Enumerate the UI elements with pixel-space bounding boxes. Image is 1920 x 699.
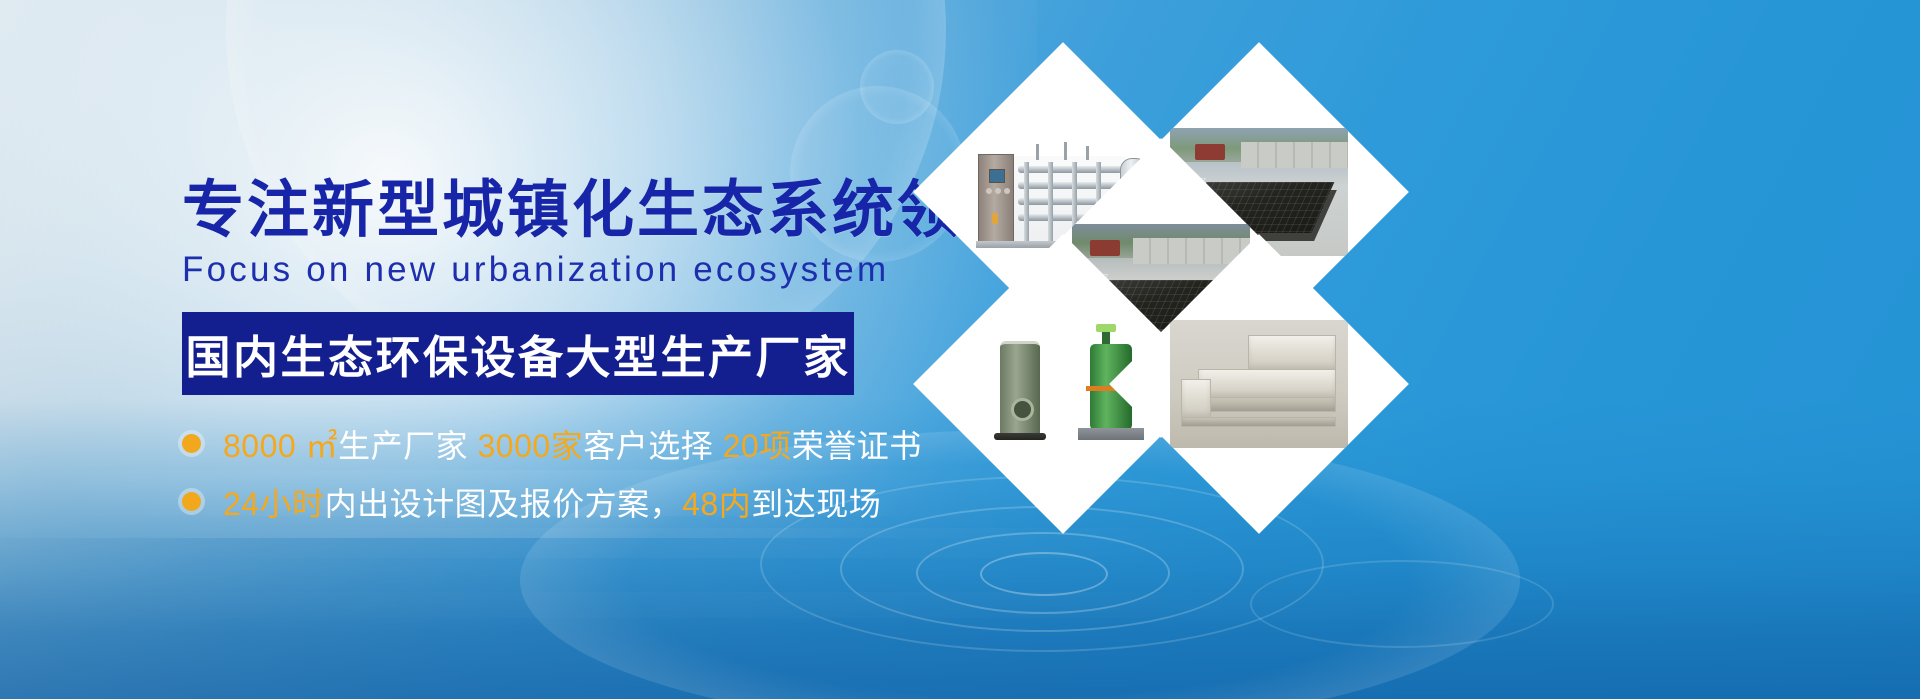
bullet-segment-5: 荣誉证书: [792, 428, 922, 464]
bullet-segment-3: 到达现场: [751, 486, 881, 522]
bullet-segment-3: 客户选择: [583, 428, 722, 464]
bullet-segment-1: 生产厂家: [338, 428, 477, 464]
bullet-segment-4: 20项: [723, 428, 792, 464]
bullet-segment-2: 48内: [682, 486, 751, 522]
bullet-segment-0: 8000 ㎡: [223, 428, 338, 464]
highlight-banner-box: 国内生态环保设备大型生产厂家: [182, 312, 854, 395]
bullet-text-2: 24小时内出设计图及报价方案，48内到达现场: [223, 479, 881, 525]
bullet-segment-0: 24小时: [223, 486, 325, 522]
headline-chinese: 专注新型城镇化生态系统领域: [182, 178, 902, 244]
hero-text-block: 专注新型城镇化生态系统领域 Focus on new urbanization …: [182, 178, 902, 537]
photo-insulation-block-stack: [1170, 320, 1348, 448]
headline-english: Focus on new urbanization ecosystem: [182, 250, 902, 290]
bullet-text-1: 8000 ㎡生产厂家 3000家客户选择 20项荣誉证书: [223, 421, 922, 467]
bullet-dot-icon: [182, 434, 201, 453]
bullet-segment-1: 内出设计图及报价方案，: [325, 486, 683, 522]
bullet-dot-icon: [182, 492, 201, 511]
feature-bullet-list: 8000 ㎡生产厂家 3000家客户选择 20项荣誉证书 24小时内出设计图及报…: [182, 421, 902, 525]
list-item: 8000 ㎡生产厂家 3000家客户选择 20项荣誉证书: [182, 421, 902, 467]
hero-banner: 专注新型城镇化生态系统领域 Focus on new urbanization …: [0, 0, 1920, 699]
bullet-segment-2: 3000家: [478, 428, 584, 464]
list-item: 24小时内出设计图及报价方案，48内到达现场: [182, 479, 902, 525]
product-diamond-collage: 39 47 16 9 39 47 16 9: [905, 52, 1325, 482]
highlight-banner-text: 国内生态环保设备大型生产厂家: [185, 321, 850, 386]
